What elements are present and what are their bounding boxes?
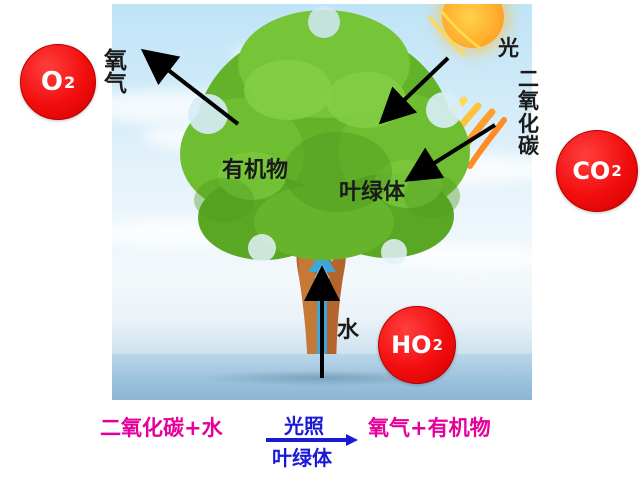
badge-co2-main: CO <box>572 157 610 185</box>
badge-o2-sub: 2 <box>64 73 75 92</box>
label-water: 水 <box>337 320 359 342</box>
badge-o2-main: O <box>41 67 63 97</box>
equation-right: 氧气+有机物 <box>368 412 491 442</box>
badge-o2: O2 <box>20 44 96 120</box>
badge-co2: CO2 <box>556 130 638 212</box>
badge-co2-sub: 2 <box>611 162 621 180</box>
illustration-panel <box>112 4 532 400</box>
label-organic-matter: 有机物 <box>222 160 288 182</box>
equation-below-arrow: 叶绿体 <box>272 442 332 471</box>
badge-h2o-sub: 2 <box>433 336 443 354</box>
badge-h2o-main: HO <box>391 331 432 359</box>
label-oxygen-gas: 氧气 <box>104 50 132 97</box>
photosynthesis-equation: 二氧化碳+水 光照 叶绿体 氧气+有机物 <box>0 400 640 480</box>
label-light: 光 <box>498 38 519 59</box>
label-chloroplast: 叶绿体 <box>339 182 405 204</box>
label-carbon-dioxide: 二氧化碳 <box>518 68 542 157</box>
photosynthesis-diagram: 光 氧气 二氧化碳 有机物 叶绿体 水 O2 CO2 HO2 二氧化碳+水 光照… <box>0 0 640 480</box>
tree-icon <box>112 4 532 400</box>
equation-left: 二氧化碳+水 <box>100 412 223 442</box>
badge-h2o: HO2 <box>378 306 456 384</box>
